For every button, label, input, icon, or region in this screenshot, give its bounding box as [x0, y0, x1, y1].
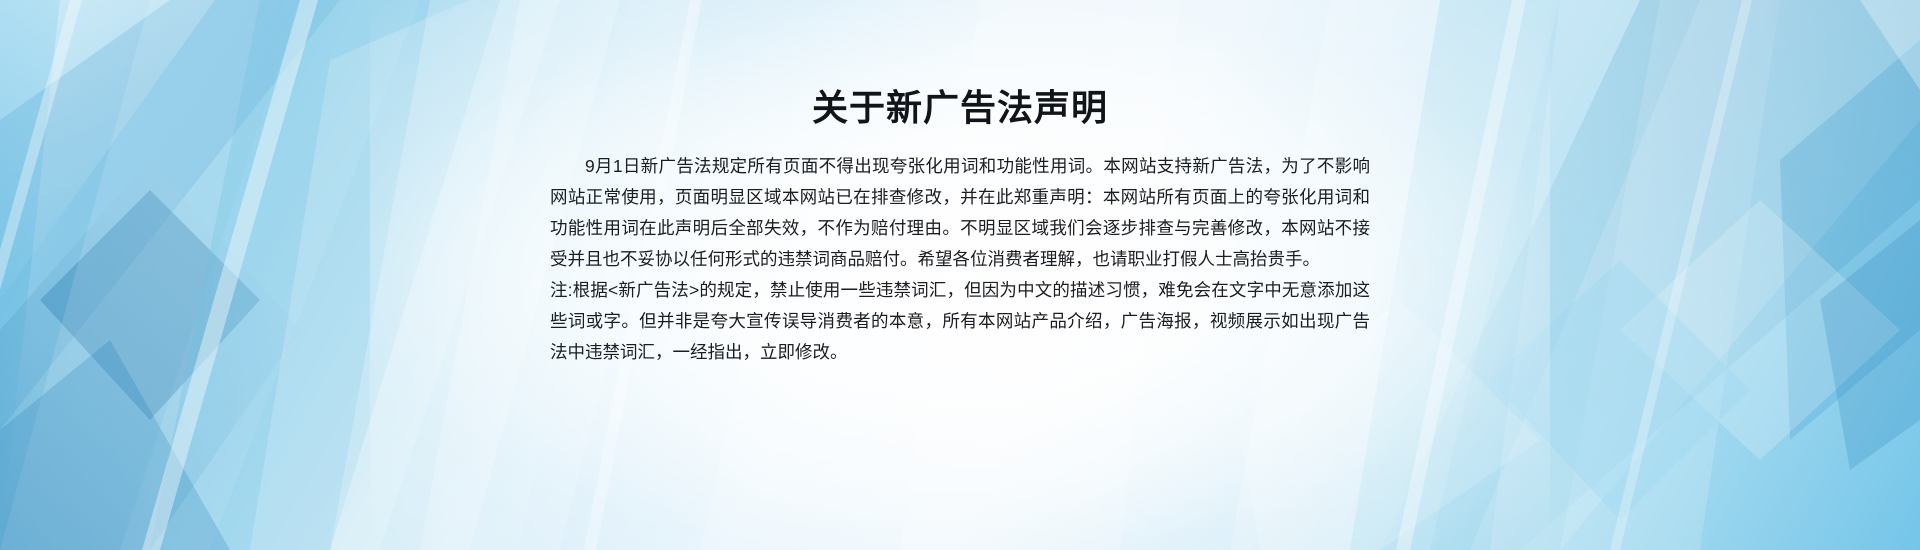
statement-content: 关于新广告法声明 9月1日新广告法规定所有页面不得出现夸张化用词和功能性用词。本… — [550, 0, 1370, 550]
statement-paragraph-1: 9月1日新广告法规定所有页面不得出现夸张化用词和功能性用词。本网站支持新广告法，… — [550, 151, 1370, 275]
statement-paragraph-2: 注:根据<新广告法>的规定，禁止使用一些违禁词汇，但因为中文的描述习惯，难免会在… — [550, 275, 1370, 368]
statement-body: 9月1日新广告法规定所有页面不得出现夸张化用词和功能性用词。本网站支持新广告法，… — [550, 129, 1370, 368]
advertising-law-statement-banner: 关于新广告法声明 9月1日新广告法规定所有页面不得出现夸张化用词和功能性用词。本… — [0, 0, 1920, 550]
page-title: 关于新广告法声明 — [550, 0, 1370, 129]
